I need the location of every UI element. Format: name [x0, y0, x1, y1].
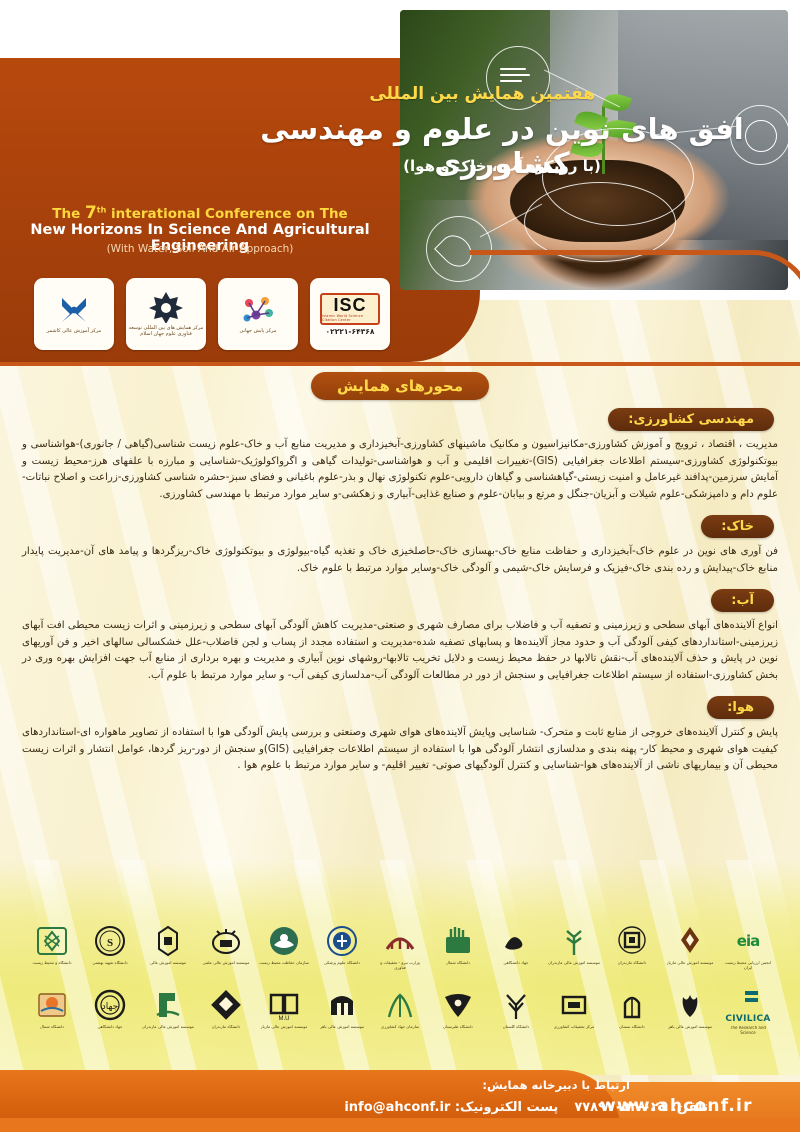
sponsor-caption: سازمان حفاظت محیط زیست — [259, 961, 309, 972]
footer-email-value[interactable]: info@ahconf.ir — [344, 1100, 450, 1115]
logo-caption: مرکز آموزش عالی کاشمر — [47, 328, 101, 334]
en-number: 7 — [85, 203, 97, 223]
sponsor-item: دانشگاه و محیط زیست — [26, 916, 78, 972]
section-badge-soil: خاک: — [701, 515, 774, 538]
jahad-daneshgahi-icon: جهاد — [91, 987, 129, 1023]
sponsor-item: دانشگاه مازندران — [200, 980, 252, 1036]
civilica-icon — [729, 980, 767, 1012]
civilica-wordmark: CIVILICA — [725, 1014, 770, 1024]
topics-section: محورهای همایش مهندسی کشاورزی: مدیریت ، ا… — [0, 368, 800, 779]
sponsor-item: موسسه آموزش عالی علمی — [200, 916, 252, 972]
conference-subtitle: (با رویکرد آب ، خاک و هوا) — [222, 157, 782, 175]
sponsor-caption: جهاد دانشگاهی — [503, 961, 528, 972]
sponsor-caption: موسسه آموزش عالی باهر — [668, 1025, 712, 1036]
sponsor-item: دانشگاه شمال — [26, 980, 78, 1036]
sponsor-caption: موسسه آموزش عالی مازندران — [548, 961, 600, 972]
sponsor-item: جهاد جهاد دانشگاهی — [84, 980, 136, 1036]
global-monitoring-icon — [240, 294, 276, 326]
topic-block-air: هوا: پایش و کنترل آلاینده‌های خروجی از م… — [0, 688, 800, 775]
sponsor-item: دانشگاه سمنان — [606, 980, 658, 1036]
sponsor-caption: وزارت نیرو - تحقیقات و فناوری — [374, 961, 426, 972]
flag-emblem-icon — [381, 987, 419, 1023]
footer-bottom-strip — [0, 1118, 800, 1132]
section-body-soil: فن آوری های نوین در علوم خاک-آبخیزداری و… — [0, 538, 800, 577]
sponsor-caption: The Research and Science — [722, 1026, 774, 1036]
sponsor-item: eia انجمن ارزیابی محیط زیست ایران — [722, 916, 774, 972]
sponsor-caption: دانشگاه گلستان — [503, 1025, 530, 1036]
footer-email[interactable]: پست الکترونیک: info@ahconf.ir — [344, 1100, 558, 1115]
organizer-logos: مرکز آموزش عالی کاشمر مرکز همایش های بین… — [34, 278, 390, 350]
semnan-icon — [613, 987, 651, 1023]
green-book-icon — [439, 923, 477, 959]
higher-education-icon — [149, 923, 187, 959]
sponsor-item: M.U موسسه آموزش عالی مازیار — [258, 980, 310, 1036]
section-body-water: انواع آلاینده‌های آبهای سطحی و زیرزمینی … — [0, 612, 800, 684]
topic-block-agricultural-engineering: مهندسی کشاورزی: مدیریت ، اقتصاد ، ترویج … — [0, 400, 800, 503]
sponsor-item: وزارت نیرو - تحقیقات و فناوری — [374, 916, 426, 972]
research-center-icon — [555, 987, 593, 1023]
sponsor-item: مرکز تحقیقات کشاورزی — [548, 980, 600, 1036]
golestan-icon — [497, 987, 535, 1023]
logo-caption: مرکز همایش های بین المللی توسعه فناوری ع… — [126, 325, 206, 337]
sponsor-item: موسسه آموزش عالی باهر — [664, 980, 716, 1036]
sponsor-row-2: دانشگاه شمال جهاد جهاد دانشگاهی موسسه آم… — [0, 976, 800, 1040]
en-pre: The — [52, 206, 85, 222]
section-body-agricultural-engineering: مدیریت ، اقتصاد ، ترویج و آموزش کشاورزی-… — [0, 431, 800, 503]
sponsor-caption: سازمان جهاد کشاورزی — [381, 1025, 419, 1036]
en-post: interational Conference on The — [106, 206, 347, 222]
en-sup: th — [97, 206, 107, 215]
isc-subtext: Islamic World Science Citation Center — [322, 314, 378, 322]
sponsor-caption: دانشگاه علوم پزشکی — [324, 961, 360, 972]
ministry-of-energy-icon — [381, 923, 419, 959]
sponsor-caption: مرکز تحقیقات کشاورزی — [554, 1025, 595, 1036]
sponsor-caption: جهاد دانشگاهی — [97, 1025, 122, 1036]
sponsor-caption: دانشگاه سمنان — [619, 1025, 644, 1036]
leaf-shape — [602, 90, 632, 114]
topic-block-soil: خاک: فن آوری های نوین در علوم خاک-آبخیزد… — [0, 507, 800, 577]
sponsor-item-civilica[interactable]: CIVILICA The Research and Science — [722, 980, 774, 1036]
mazandaran-institute-icon — [149, 987, 187, 1023]
tabarestan-icon — [439, 987, 477, 1023]
sponsor-caption: دانشگاه شمال — [446, 961, 470, 972]
footer-email-label: پست الکترونیک: — [455, 1100, 558, 1115]
isc-text: ISC — [333, 296, 366, 314]
kashmar-university-icon — [56, 294, 92, 326]
sponsor-item: دانشگاه علوم پزشکی — [316, 916, 368, 972]
topics-header-badge: محورهای همایش — [311, 372, 489, 400]
section-label-wrap: هوا: — [0, 688, 800, 719]
agriculture-seal-icon — [207, 923, 245, 959]
logo-card-payesh: مرکز پایش جهانی — [218, 278, 298, 350]
svg-text:جهاد: جهاد — [102, 1002, 118, 1012]
medical-university-icon — [323, 923, 361, 959]
sponsor-item: موسسه آموزش عالی مازندران — [548, 916, 600, 972]
footer-website-url[interactable]: www.ahconf.ir — [600, 1096, 753, 1116]
section-label-wrap: آب: — [0, 581, 800, 612]
sponsor-row-1: دانشگاه و محیط زیست S دانشگاه شهید بهشتی… — [0, 912, 800, 976]
sponsor-item: سازمان جهاد کشاورزی — [374, 980, 426, 1036]
logo-card-kashmar: مرکز آموزش عالی کاشمر — [34, 278, 114, 350]
header-curve-divider — [470, 250, 800, 373]
islamic-star-icon — [148, 291, 184, 323]
sponsor-caption: انجمن ارزیابی محیط زیست ایران — [722, 961, 774, 972]
sponsor-item: موسسه آموزش عالی مازندران — [142, 980, 194, 1036]
shomal-university-icon — [33, 987, 71, 1023]
isc-code: ۰۲۲۲۱-۶۴۳۶۸ — [326, 327, 375, 336]
poster-header: هفتمین همایش بین المللی افق های نوین در … — [0, 0, 800, 300]
sponsor-caption: دانشگاه طبرستان — [443, 1025, 473, 1036]
sponsor-caption: دانشگاه مازندران — [618, 961, 647, 972]
isc-logo: ISC Islamic World Science Citation Cente… — [320, 293, 380, 325]
svg-text:M.U: M.U — [279, 1016, 290, 1021]
logo-card-isc: ISC Islamic World Science Citation Cente… — [310, 278, 390, 350]
svg-text:S: S — [107, 937, 113, 949]
sponsor-caption: دانشگاه و محیط زیست — [32, 961, 71, 972]
kufic-seal-icon — [613, 923, 651, 959]
eia-logo-icon: eia — [729, 923, 767, 959]
logo-card-hamayesh: مرکز همایش های بین المللی توسعه فناوری ع… — [126, 278, 206, 350]
sponsor-item: دانشگاه گلستان — [490, 980, 542, 1036]
sponsor-item: جهاد دانشگاهی — [490, 916, 542, 972]
environment-org-icon — [265, 923, 303, 959]
shiraz-university-icon — [33, 923, 71, 959]
section-label-wrap: خاک: — [0, 507, 800, 538]
sponsor-item: موسسه آموزش عالی — [142, 916, 194, 972]
sponsor-caption: دانشگاه شمال — [40, 1025, 64, 1036]
section-label-wrap: مهندسی کشاورزی: — [0, 400, 800, 431]
sponsor-item: سازمان حفاظت محیط زیست — [258, 916, 310, 972]
sponsor-caption: دانشگاه مازندران — [212, 1025, 241, 1036]
mu-book-icon: M.U — [265, 987, 303, 1023]
section-badge-agricultural-engineering: مهندسی کشاورزی: — [608, 408, 774, 431]
brown-knot-icon — [671, 923, 709, 959]
sponsor-item: دانشگاه شمال — [432, 916, 484, 972]
mu-diamond-icon — [207, 987, 245, 1023]
conference-en-line1: The 7th interational Conference on The — [0, 203, 400, 223]
conference-edition-title: هفتمین همایش بین المللی — [369, 84, 595, 104]
topics-header-wrap: محورهای همایش — [0, 368, 800, 400]
sponsor-item: موسسه آموزش عالی باهر — [316, 980, 368, 1036]
conference-en-line3: (With Water, Soil And Air Approach) — [0, 243, 400, 255]
footer-contact-title: ارتباط با دبیرخانه همایش: — [482, 1078, 630, 1092]
section-body-air: پایش و کنترل آلاینده‌های خروجی از منابع … — [0, 719, 800, 775]
institute-columns-icon — [323, 987, 361, 1023]
sponsor-caption: موسسه آموزش عالی علمی — [203, 961, 250, 972]
header-divider-line — [0, 362, 800, 366]
sponsor-logos: دانشگاه و محیط زیست S دانشگاه شهید بهشتی… — [0, 912, 800, 1040]
sponsor-caption: موسسه آموزش عالی مازندران — [142, 1025, 194, 1036]
behesht-institute-icon — [671, 987, 709, 1023]
sponsor-item: دانشگاه طبرستان — [432, 980, 484, 1036]
sponsor-caption: موسسه آموزش عالی مازیار — [261, 1025, 308, 1036]
sbu-seal-icon: S — [91, 923, 129, 959]
sponsor-caption: موسسه آموزش عالی — [150, 961, 186, 972]
sponsor-item: S دانشگاه شهید بهشتی — [84, 916, 136, 972]
topic-block-water: آب: انواع آلاینده‌های آبهای سطحی و زیرزم… — [0, 581, 800, 684]
sponsor-caption: دانشگاه شهید بهشتی — [92, 961, 127, 972]
section-badge-air: هوا: — [707, 696, 774, 719]
sponsor-item: موسسه آموزش عالی مازیار — [664, 916, 716, 972]
section-badge-water: آب: — [711, 589, 774, 612]
calligraphy-bird-icon — [497, 923, 535, 959]
sponsor-caption: موسسه آموزش عالی مازیار — [667, 961, 714, 972]
sponsor-caption: موسسه آموزش عالی باهر — [320, 1025, 364, 1036]
wheat-research-icon — [555, 923, 593, 959]
sponsor-item: دانشگاه مازندران — [606, 916, 658, 972]
logo-caption: مرکز پایش جهانی — [240, 328, 277, 334]
